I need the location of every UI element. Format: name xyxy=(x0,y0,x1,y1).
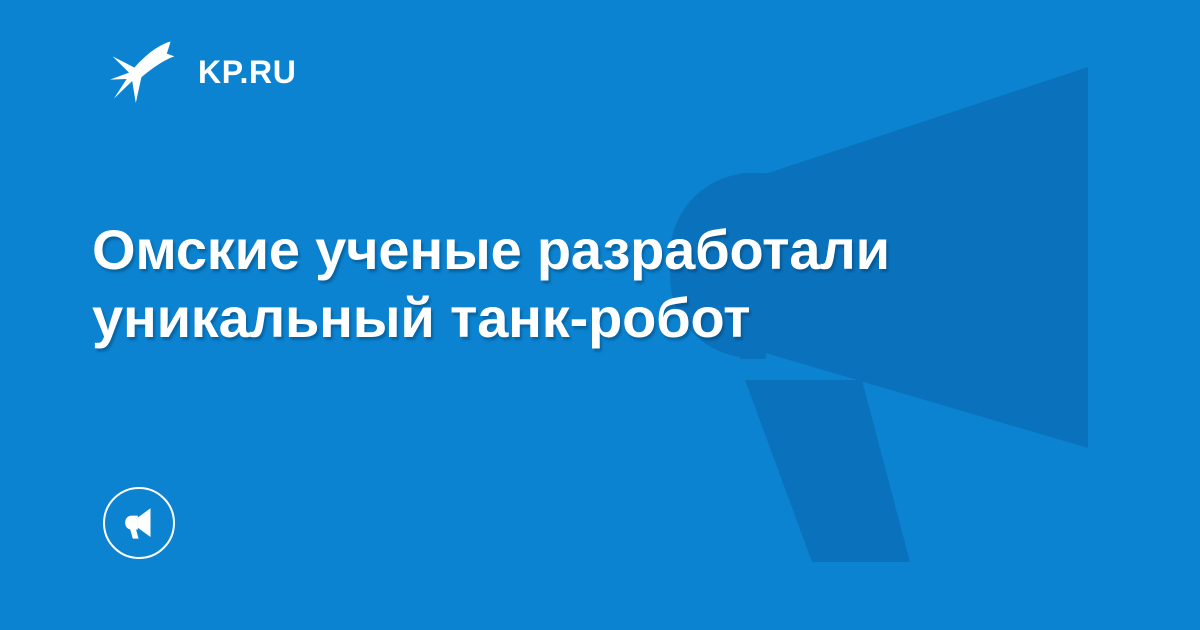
brand-header[interactable]: KP.RU xyxy=(108,36,296,108)
megaphone-icon xyxy=(119,503,159,543)
megaphone-badge[interactable] xyxy=(103,487,175,559)
brand-wordmark: KP.RU xyxy=(198,56,296,88)
swallow-bird-icon xyxy=(108,36,180,108)
page-title: Омские ученые разработали уникальный тан… xyxy=(92,216,992,352)
social-share-card: KP.RU Омские ученые разработали уникальн… xyxy=(0,0,1200,630)
